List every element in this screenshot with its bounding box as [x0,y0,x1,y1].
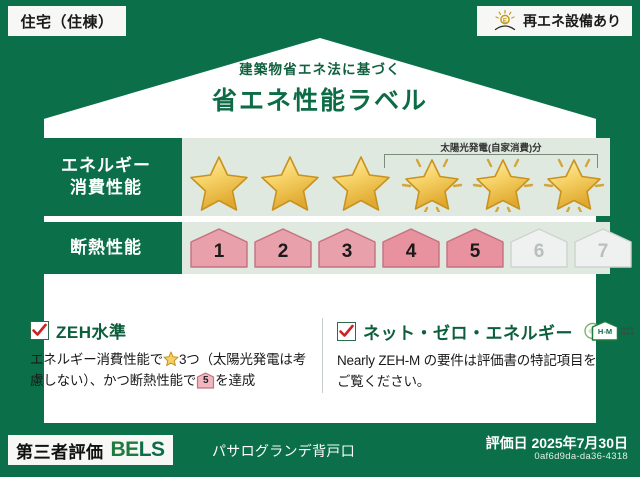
row-energy-performance: エネルギー 消費性能 太陽光発電(自家消費)分 [30,138,610,216]
badge-building-type: 住宅（住棟） [8,6,126,36]
insulation-level-3-value: 3 [342,241,353,269]
stars-row [184,152,609,214]
criteria-section: ZEH水準 エネルギー消費性能で3つ（太陽光発電は考慮しない）、かつ断熱性能で5… [30,318,612,393]
checkmark-icon [30,321,49,340]
insulation-level-7: 7 [572,227,634,269]
criteria-zeh-title: ZEH水準 [56,318,127,343]
insulation-level-5-value: 5 [470,241,481,269]
criteria-zeh-body: エネルギー消費性能で3つ（太陽光発電は考慮しない）、かつ断熱性能で5を達成 [30,350,314,392]
checkmark-icon [337,322,356,341]
star-4-solar [397,152,467,214]
title-block: 建築物省エネ法に基づく 省エネ性能ラベル [0,58,640,117]
svg-text:ZEH-M: ZEH-M [621,331,634,336]
energy-label-line1: エネルギー [61,155,151,177]
sun-icon: E [492,9,518,33]
energy-performance-value: 太陽光発電(自家消費)分 [182,138,610,216]
star-1 [184,152,254,214]
energy-performance-label-box: エネルギー 消費性能 [30,138,182,216]
row-insulation-performance: 断熱性能 1 2 [30,222,610,274]
insulation-level-1: 1 [188,227,250,269]
energy-label-line2: 消費性能 [70,177,142,199]
insulation-performance-value: 1 2 3 [182,222,610,274]
house-level-icon: 5 [196,372,215,389]
criteria-zeh-head: ZEH水準 [30,318,314,343]
insulation-level-2: 2 [252,227,314,269]
title-subtitle: 建築物省エネ法に基づく [0,58,640,78]
insulation-label: 断熱性能 [70,237,142,259]
criteria-zeh-text1: エネルギー消費性能で [30,352,163,367]
footer-bar: 第三者評価 BELS パサログランデ背戸口 評価日 2025年7月30日 0af… [0,423,640,477]
star-2 [255,152,325,214]
criteria-zeh: ZEH水準 エネルギー消費性能で3つ（太陽光発電は考慮しない）、かつ断熱性能で5… [30,318,322,393]
performance-area: エネルギー 消費性能 太陽光発電(自家消費)分 [30,138,610,280]
evaluation-id: 0af6d9da-da36-4318 [534,451,628,462]
insulation-performance-label-box: 断熱性能 [30,222,182,274]
criteria-nzeh-body: Nearly ZEH-M の要件は評価書の特記項目をご覧ください。 [337,351,604,393]
bels-part1: BE [111,438,139,461]
insulation-levels-row: 1 2 3 [188,227,634,269]
insulation-level-6-value: 6 [534,241,545,269]
badge-renewable-label: 再エネ設備あり [523,11,621,31]
house-level-icon-value: 5 [196,373,215,389]
insulation-level-4-value: 4 [406,241,417,269]
nearly-zeh-m-logo-icon: H-M Nearly ZEH-M [584,318,634,344]
insulation-level-7-value: 7 [598,241,609,269]
criteria-zeh-text3: を達成 [215,373,255,388]
page-title: 省エネ性能ラベル [0,81,640,117]
criteria-net-zero-energy: ネット・ゼロ・エネルギー H-M Nearly ZEH-M Nearly ZEH… [322,318,612,393]
star-5-solar [468,152,538,214]
insulation-level-3: 3 [316,227,378,269]
badge-building-type-label: 住宅（住棟） [20,11,113,32]
evaluation-date: 評価日 2025年7月30日 [486,433,628,453]
property-name: パサログランデ背戸口 [212,441,355,461]
badge-renewable-equipment: E 再エネ設備あり [477,6,632,36]
star-6-solar [539,152,609,214]
insulation-level-1-value: 1 [214,241,225,269]
bels-part2: LS [139,438,165,461]
bels-chip: 第三者評価 BELS [8,435,173,465]
criteria-nzeh-head: ネット・ゼロ・エネルギー H-M Nearly ZEH-M [337,318,604,344]
star-3 [326,152,396,214]
insulation-level-4: 4 [380,227,442,269]
star-icon [163,351,179,367]
bels-logo: BELS [111,438,165,462]
insulation-level-6: 6 [508,227,570,269]
svg-text:E: E [503,17,507,24]
insulation-level-5: 5 [444,227,506,269]
svg-text:H-M: H-M [598,327,612,336]
criteria-nzeh-title: ネット・ゼロ・エネルギー [363,319,573,344]
third-party-eval-label: 第三者評価 [16,438,104,463]
insulation-level-2-value: 2 [278,241,289,269]
energy-performance-label: 住宅（住棟） E 再エネ設備あり 建築物省エネ法に基づく 省エネ性能ラベル [0,0,640,477]
